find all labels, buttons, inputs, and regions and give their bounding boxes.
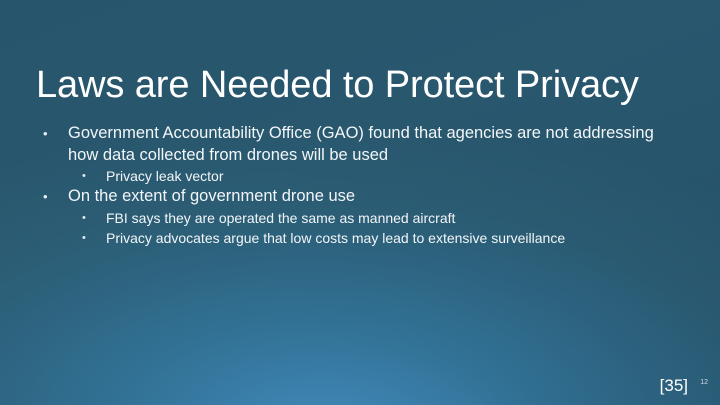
slide-title: Laws are Needed to Protect Privacy xyxy=(36,62,686,108)
bullet-item-level2: • Privacy leak vector xyxy=(38,166,678,186)
slide-body-content: • Government Accountability Office (GAO)… xyxy=(38,123,678,248)
bullet-marker-icon: • xyxy=(38,123,68,145)
bullet-item-level2: • FBI says they are operated the same as… xyxy=(38,208,678,228)
bullet-item-level1: • Government Accountability Office (GAO)… xyxy=(38,123,678,166)
bullet-marker-icon: • xyxy=(38,228,106,248)
bullet-text: Government Accountability Office (GAO) f… xyxy=(68,123,678,166)
bullet-text: Privacy leak vector xyxy=(106,166,678,186)
citation-reference: [35] xyxy=(660,376,688,396)
slide-number: 12 xyxy=(700,378,708,387)
bullet-text: Privacy advocates argue that low costs m… xyxy=(106,228,678,248)
bullet-marker-icon: • xyxy=(38,186,68,208)
bullet-marker-icon: • xyxy=(38,208,106,228)
presentation-slide: Laws are Needed to Protect Privacy • Gov… xyxy=(0,0,720,405)
bullet-marker-icon: • xyxy=(38,166,106,186)
bullet-text: FBI says they are operated the same as m… xyxy=(106,208,678,228)
bullet-item-level1: • On the extent of government drone use xyxy=(38,186,678,208)
bullet-text: On the extent of government drone use xyxy=(68,186,678,208)
bullet-item-level2: • Privacy advocates argue that low costs… xyxy=(38,228,678,248)
